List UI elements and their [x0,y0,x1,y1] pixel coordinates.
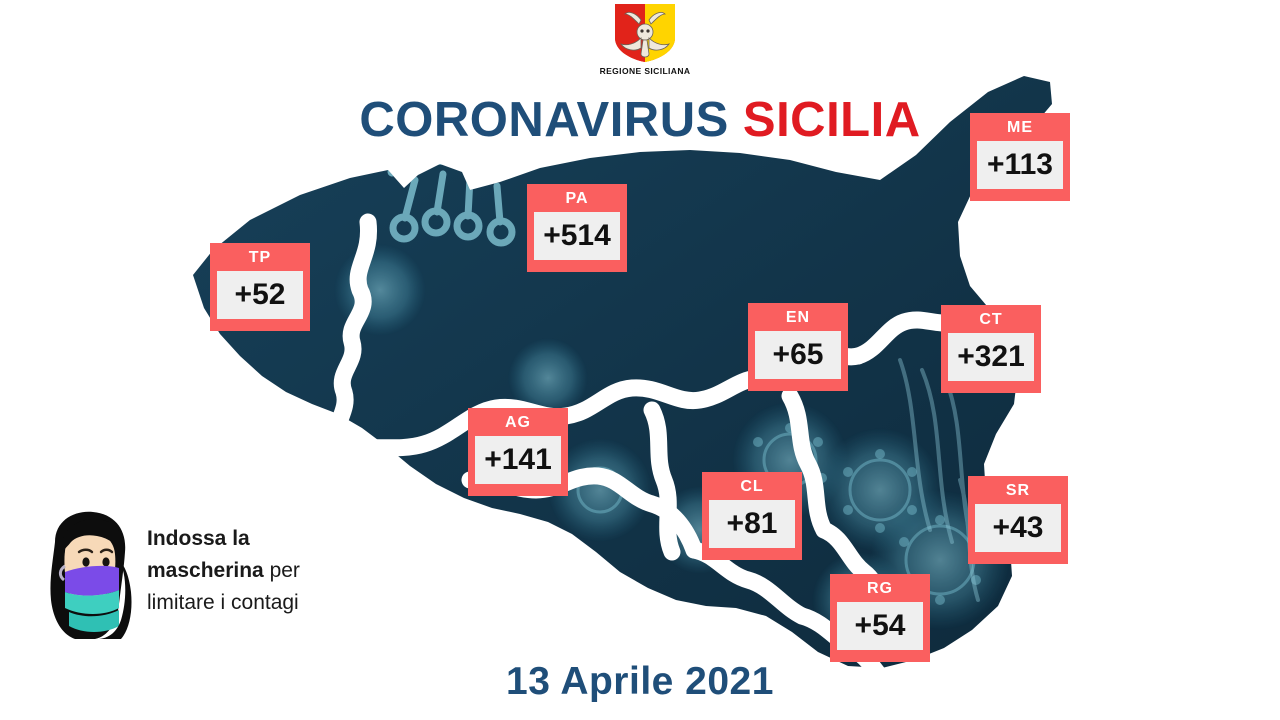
province-card-pa: PA+514 [527,184,627,272]
person-wearing-mask-icon [35,508,141,640]
province-code-label: PA [534,190,620,208]
regione-siciliana-emblem: REGIONE SICILIANA [583,2,707,86]
mask-line-1: Indossa la [147,527,250,550]
province-card-rg: RG+54 [830,574,930,662]
province-code-label: AG [475,414,561,432]
province-value: +321 [948,333,1034,381]
title-coronavirus: CORONAVIRUS [359,93,728,147]
province-card-me: ME+113 [970,113,1070,201]
mask-reminder-text: Indossa la mascherina per limitare i con… [147,523,367,619]
infographic-page: REGIONE SICILIANA CORONAVIRUS SICILIA TP… [0,0,1280,720]
province-card-ct: CT+321 [941,305,1041,393]
page-title: CORONAVIRUS SICILIA [0,92,1280,148]
province-card-ag: AG+141 [468,408,568,496]
mask-reminder: Indossa la mascherina per limitare i con… [35,508,365,643]
province-code-label: CL [709,478,795,496]
province-code-label: CT [948,311,1034,329]
province-card-en: EN+65 [748,303,848,391]
emblem-caption: REGIONE SICILIANA [583,66,707,76]
province-value: +514 [534,212,620,260]
province-code-label: TP [217,249,303,267]
province-value: +81 [709,500,795,548]
mask-line-3: limitare i contagi [147,591,299,614]
mask-line-2-rest: per [264,559,300,582]
title-sicilia: SICILIA [743,93,921,147]
province-code-label: SR [975,482,1061,500]
province-value: +113 [977,141,1063,189]
province-card-tp: TP+52 [210,243,310,331]
trinacria-shield-icon [611,2,679,64]
province-card-sr: SR+43 [968,476,1068,564]
province-value: +52 [217,271,303,319]
province-value: +43 [975,504,1061,552]
province-code-label: ME [977,119,1063,137]
province-code-label: RG [837,580,923,598]
province-value: +141 [475,436,561,484]
province-code-label: EN [755,309,841,327]
report-date: 13 Aprile 2021 [0,660,1280,704]
province-value: +65 [755,331,841,379]
province-card-cl: CL+81 [702,472,802,560]
mask-line-2-bold: mascherina [147,559,264,582]
province-value: +54 [837,602,923,650]
